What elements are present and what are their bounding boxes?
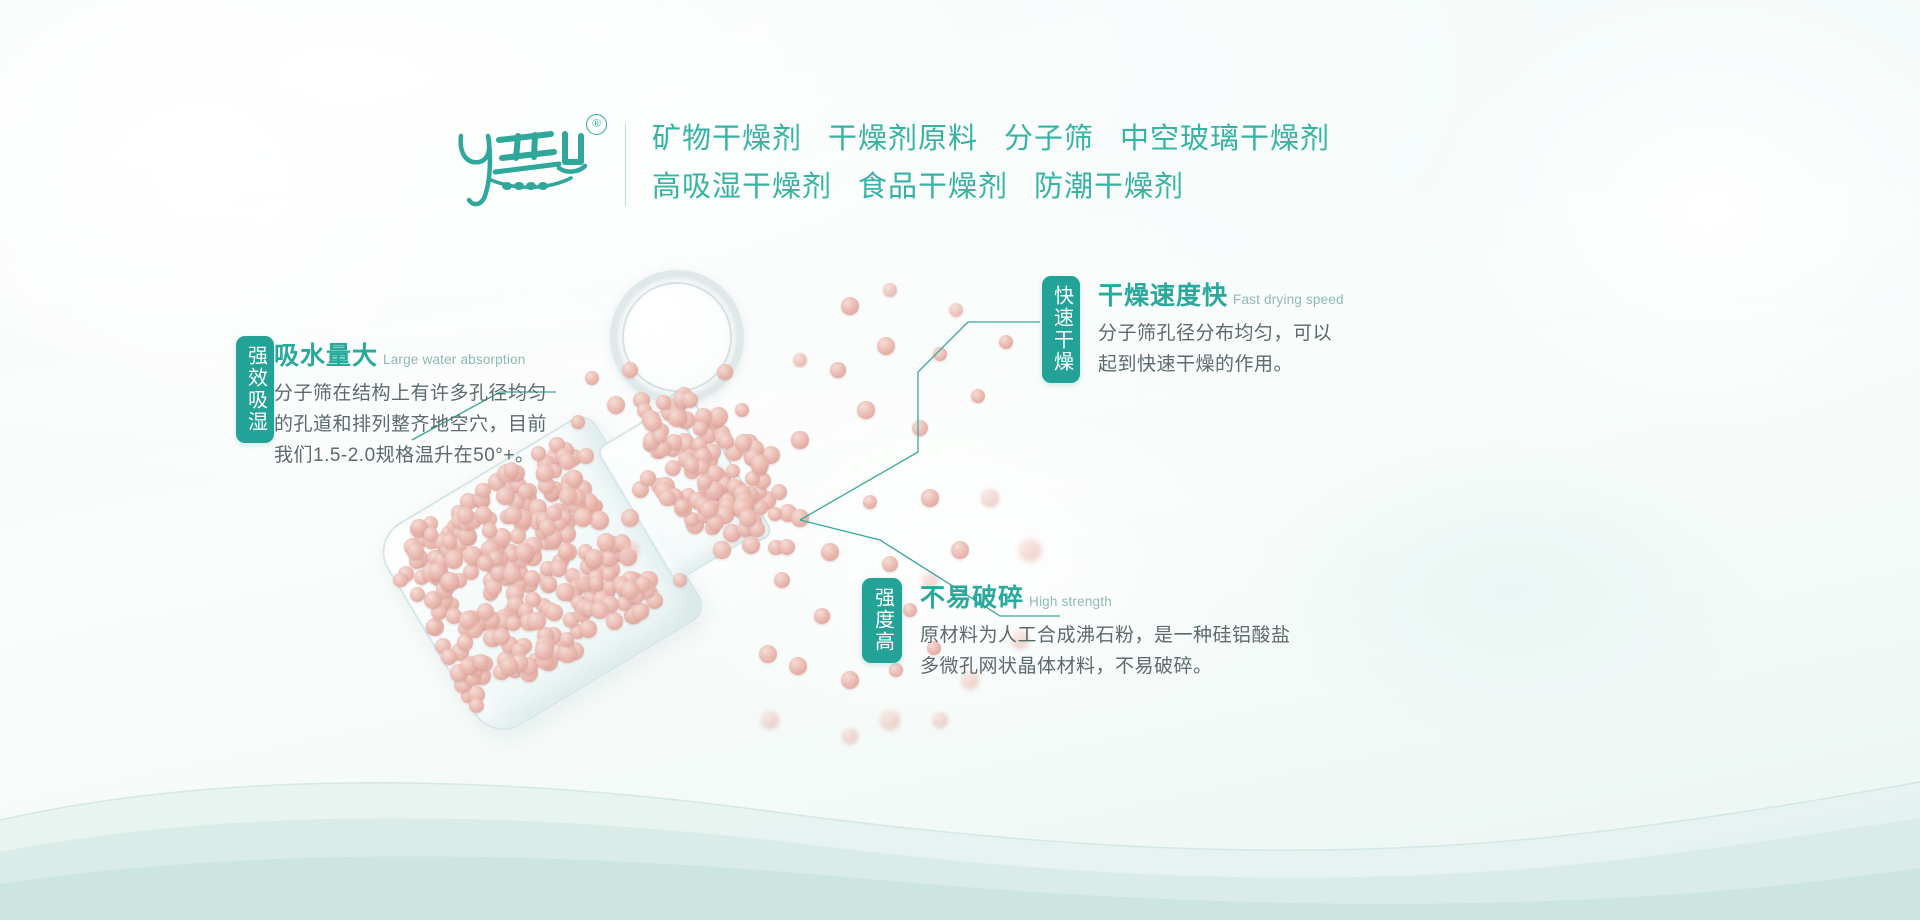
bead xyxy=(410,587,425,602)
callout-body-line-1: 分子筛孔径分布均匀，可以 xyxy=(1098,318,1344,349)
bead xyxy=(713,541,730,558)
bead xyxy=(682,392,699,409)
bead xyxy=(607,396,625,414)
bead xyxy=(673,573,688,588)
keyword-row-2: 高吸湿干燥剂 食品干燥剂 防潮干燥剂 xyxy=(652,168,1330,206)
bead xyxy=(602,567,616,581)
callout-subtitle: Large water absorption xyxy=(383,352,526,367)
brand-logo[interactable]: ® xyxy=(455,118,595,210)
bead xyxy=(665,460,681,476)
callout-body-line-2: 的孔道和排列整齐地空穴，目前 xyxy=(274,409,547,440)
bead xyxy=(585,371,600,386)
bead xyxy=(565,470,582,487)
callout-body-line-3: 我们1.5-2.0规格温升在50°+。 xyxy=(274,440,547,471)
bead xyxy=(882,556,899,573)
callout-large-water-absorption: 强效吸湿 吸水量大 Large water absorption 分子筛在结构上… xyxy=(236,336,274,443)
bead xyxy=(830,362,845,377)
bead xyxy=(951,541,969,559)
bead xyxy=(632,603,650,621)
bead xyxy=(445,550,464,569)
bead xyxy=(441,649,457,665)
callout-headline: 吸水量大 Large water absorption xyxy=(274,336,547,372)
bead xyxy=(779,539,795,555)
bead xyxy=(601,550,618,567)
bead xyxy=(393,573,408,588)
bead xyxy=(473,654,489,670)
bead xyxy=(841,297,860,316)
bead xyxy=(735,434,752,451)
bead xyxy=(821,543,839,561)
bottom-wave-decoration xyxy=(0,670,1920,920)
bead xyxy=(668,409,686,427)
bead xyxy=(877,337,896,356)
banner-header: ® 矿物干燥剂 干燥剂原料 分子筛 中空玻璃干燥剂 高吸湿干燥剂 食品干燥剂 防… xyxy=(0,0,1920,250)
callout-body-line-1: 原材料为人工合成沸石粉，是一种硅铝酸盐 xyxy=(920,620,1291,651)
bead xyxy=(921,489,938,506)
bead xyxy=(719,434,734,449)
bead xyxy=(515,543,533,561)
bead xyxy=(597,533,614,550)
callout-headline: 干燥速度快 Fast drying speed xyxy=(1098,276,1344,312)
bead xyxy=(510,528,526,544)
bead xyxy=(863,495,878,510)
bead xyxy=(580,620,598,638)
bead xyxy=(717,364,733,380)
callout-high-strength: 强度高 不易破碎 High strength 原材料为人工合成沸石粉，是一种硅铝… xyxy=(862,578,1291,682)
bead xyxy=(560,632,575,647)
bead xyxy=(556,583,574,601)
bead xyxy=(912,420,928,436)
bead xyxy=(739,509,756,526)
bead xyxy=(485,579,502,596)
keyword-high-moisture-absorption-desiccant[interactable]: 高吸湿干燥剂 xyxy=(652,168,832,206)
bead xyxy=(482,523,497,538)
callout-title: 吸水量大 xyxy=(274,336,378,372)
bead xyxy=(571,571,588,588)
bead xyxy=(622,362,639,379)
bead xyxy=(857,401,874,418)
bead xyxy=(814,608,830,624)
bead xyxy=(527,612,546,631)
bead xyxy=(793,353,807,367)
callout-subtitle: High strength xyxy=(1029,594,1112,609)
callout-title: 干燥速度快 xyxy=(1098,276,1228,312)
bead xyxy=(659,490,676,507)
bead xyxy=(693,421,707,435)
badge-fast-drying: 快速干燥 xyxy=(1042,276,1080,383)
bead xyxy=(709,407,727,425)
bead xyxy=(621,509,639,527)
bead xyxy=(771,484,787,500)
bead xyxy=(441,572,458,589)
bead xyxy=(546,604,563,621)
keyword-food-desiccant[interactable]: 食品干燥剂 xyxy=(858,168,1008,206)
bead xyxy=(535,641,553,659)
bead xyxy=(768,507,782,521)
bead xyxy=(774,572,791,589)
bead xyxy=(571,415,585,429)
bead xyxy=(791,431,808,448)
bead xyxy=(933,347,947,361)
bead xyxy=(496,487,515,506)
bead xyxy=(550,560,567,577)
callout-fast-drying-speed: 快速干燥 干燥速度快 Fast drying speed 分子筛孔径分布均匀，可… xyxy=(1042,276,1344,383)
bead xyxy=(791,509,809,527)
bead xyxy=(981,489,998,506)
header-divider xyxy=(625,124,626,206)
badge-high-strength: 强度高 xyxy=(862,578,902,663)
bead xyxy=(971,389,985,403)
bead xyxy=(558,644,576,662)
keyword-molecular-sieve[interactable]: 分子筛 xyxy=(1004,120,1094,158)
callout-title: 不易破碎 xyxy=(920,578,1024,614)
bead xyxy=(726,464,740,478)
bead xyxy=(506,616,521,631)
bead xyxy=(590,511,608,529)
product-banner: ® 矿物干燥剂 干燥剂原料 分子筛 中空玻璃干燥剂 高吸湿干燥剂 食品干燥剂 防… xyxy=(0,0,1920,920)
keyword-moisture-proof-desiccant[interactable]: 防潮干燥剂 xyxy=(1034,168,1184,206)
keyword-mineral-desiccant[interactable]: 矿物干燥剂 xyxy=(652,120,802,158)
callout-headline: 不易破碎 High strength xyxy=(920,578,1291,614)
badge-label: 强度高 xyxy=(870,587,895,653)
bead xyxy=(742,536,760,554)
keyword-row-1: 矿物干燥剂 干燥剂原料 分子筛 中空玻璃干燥剂 xyxy=(652,120,1330,158)
bead xyxy=(459,611,477,629)
keyword-desiccant-raw-material[interactable]: 干燥剂原料 xyxy=(828,120,978,158)
bead xyxy=(1019,539,1041,561)
bead xyxy=(524,570,540,586)
bead xyxy=(578,448,595,465)
registered-trademark-icon: ® xyxy=(586,114,607,135)
bead xyxy=(735,403,749,417)
bead xyxy=(949,303,963,317)
bead xyxy=(559,453,576,470)
bead xyxy=(697,475,711,489)
bead xyxy=(407,543,423,559)
bead xyxy=(457,507,474,524)
bead xyxy=(883,283,897,297)
keyword-insulating-glass-desiccant[interactable]: 中空玻璃干燥剂 xyxy=(1120,120,1330,158)
bead xyxy=(751,455,768,472)
callout-body-line-1: 分子筛在结构上有许多孔径均匀 xyxy=(274,378,547,409)
bead xyxy=(574,508,592,526)
bead xyxy=(656,395,671,410)
callout-body-line-2: 起到快速干燥的作用。 xyxy=(1098,349,1344,380)
bead xyxy=(558,543,573,558)
callout-subtitle: Fast drying speed xyxy=(1233,292,1344,307)
badge-label: 快速干燥 xyxy=(1049,285,1074,373)
bead xyxy=(759,645,777,663)
bead xyxy=(606,612,623,629)
header-keyword-list: 矿物干燥剂 干燥剂原料 分子筛 中空玻璃干燥剂 高吸湿干燥剂 食品干燥剂 防潮干… xyxy=(652,118,1330,206)
bead xyxy=(999,335,1014,350)
bead xyxy=(700,501,718,519)
